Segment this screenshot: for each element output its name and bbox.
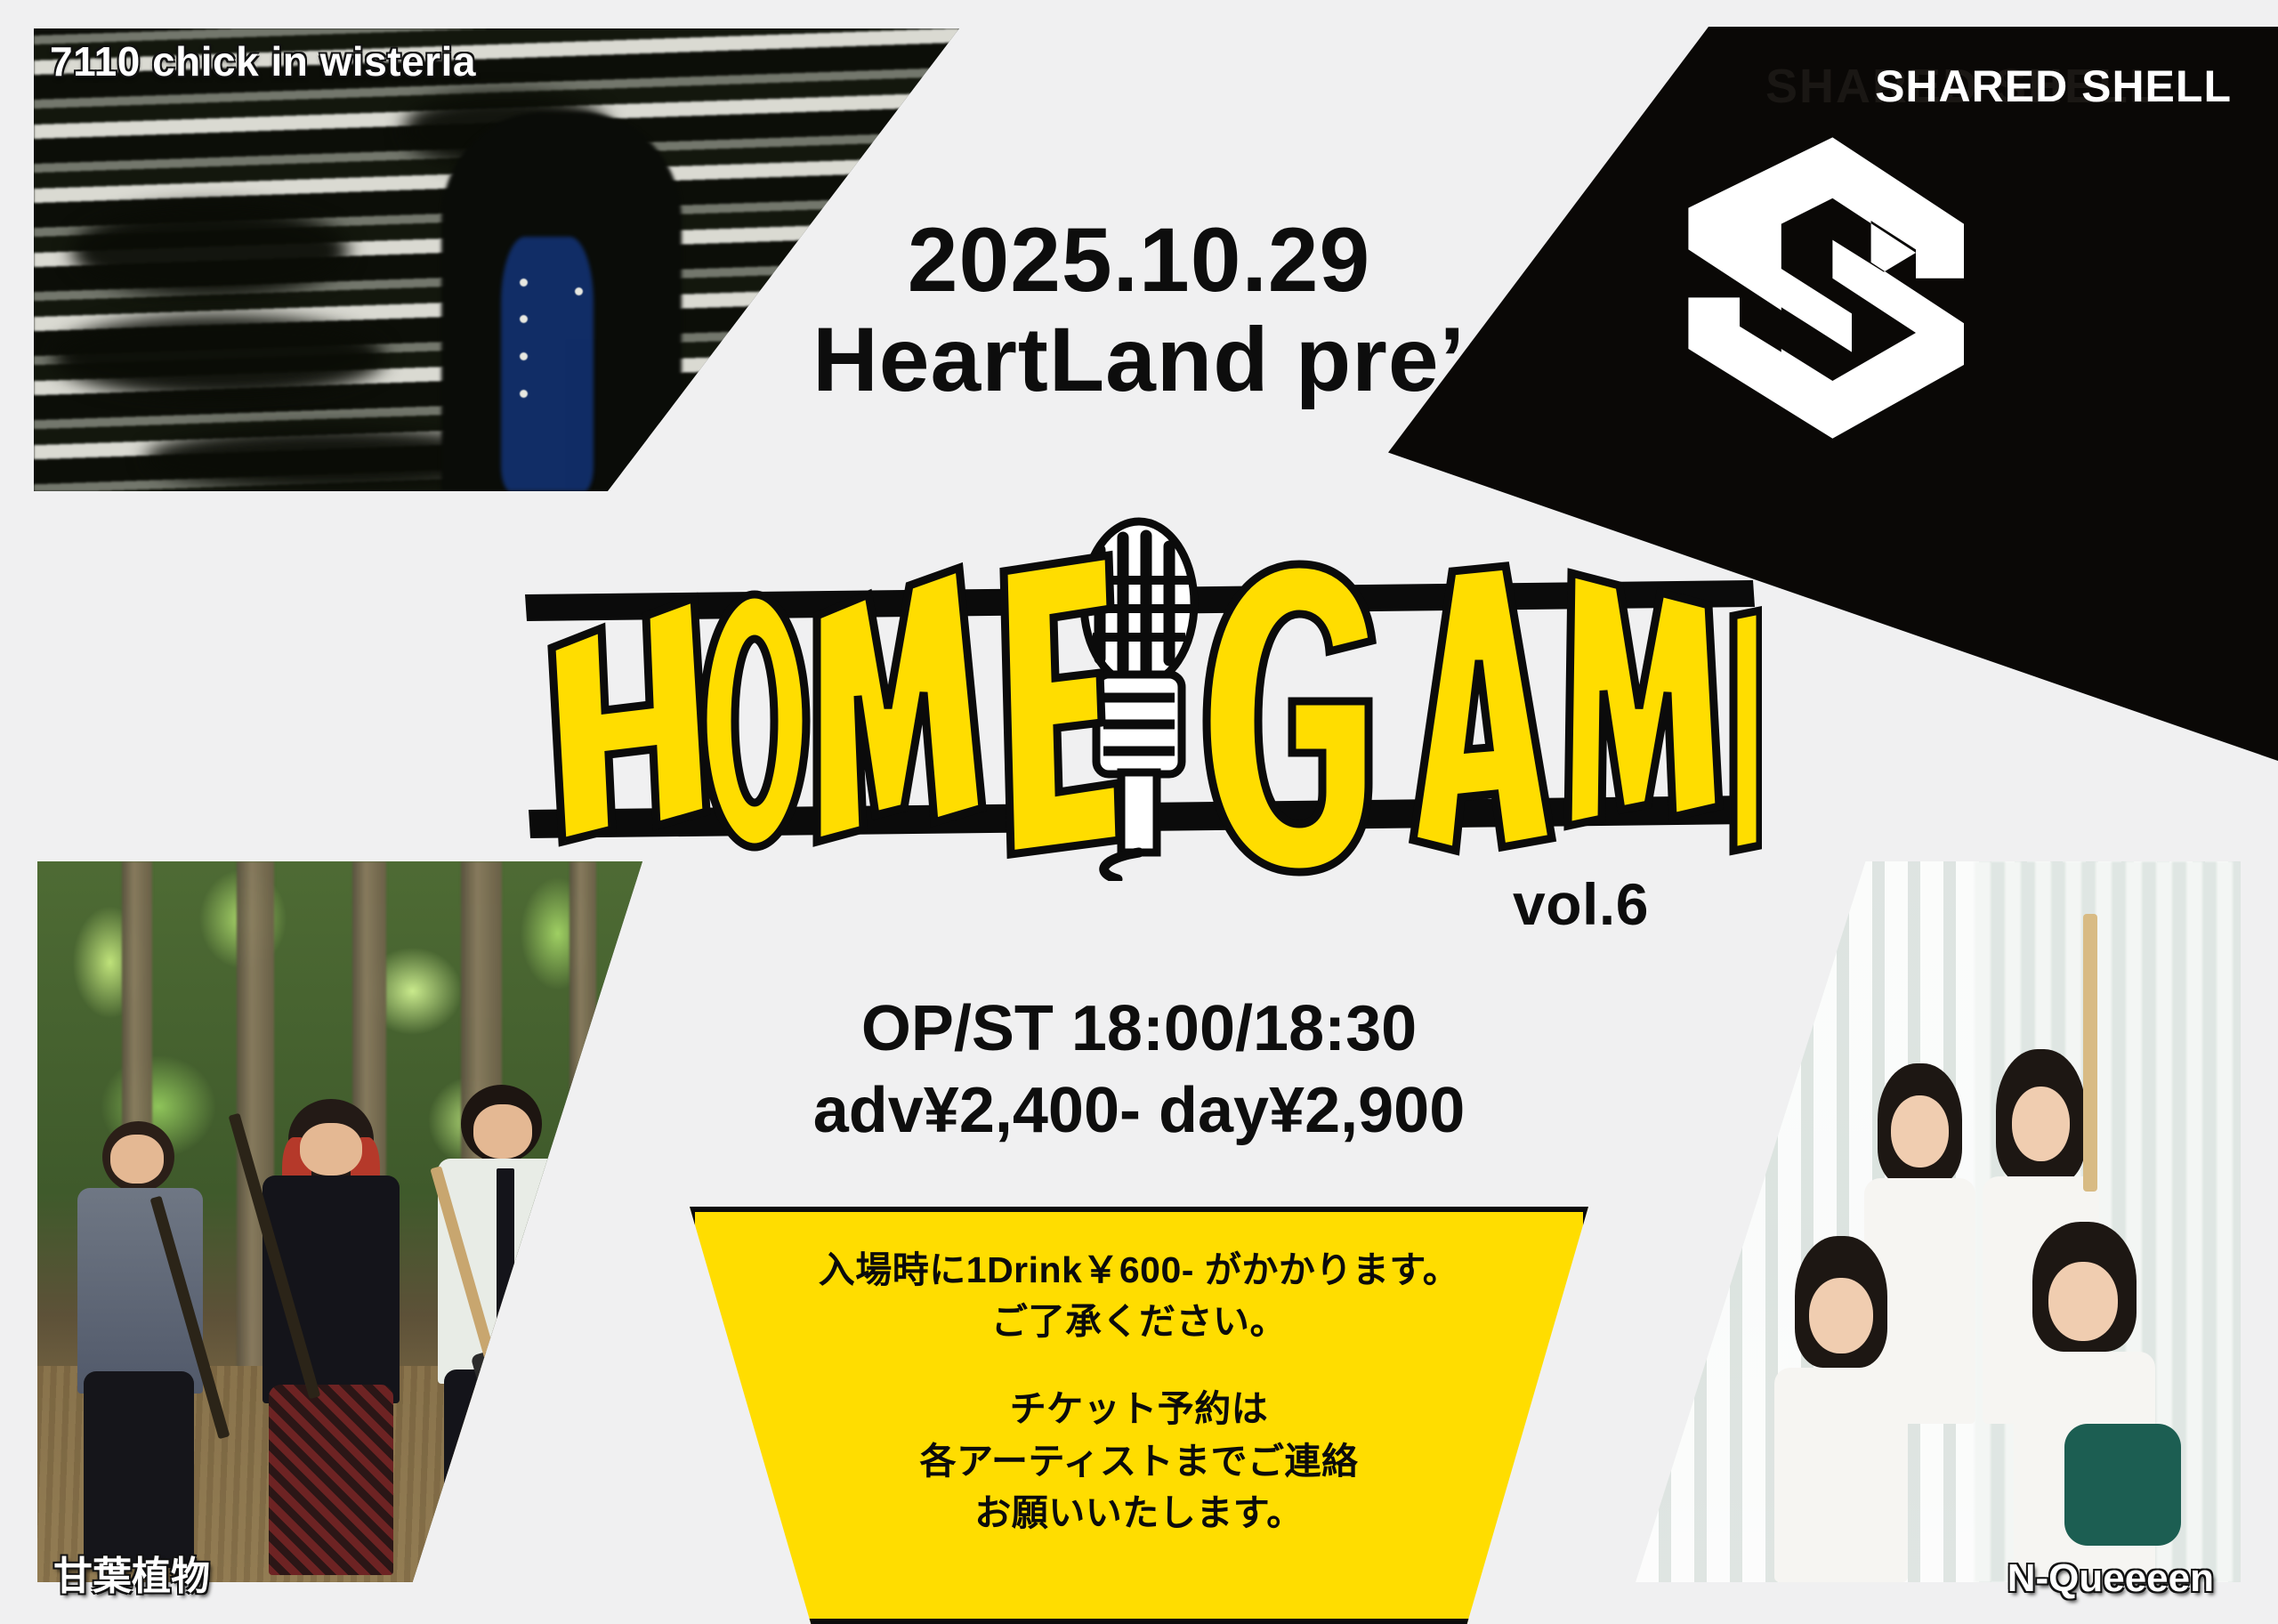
notice-line-understand: ご了承ください。 xyxy=(819,1296,1459,1347)
venue-name: SHARED SHELL xyxy=(1875,61,2232,112)
notice-box: 入場時に1Drink￥600- がかかります。 ご了承ください。 チケット予約は… xyxy=(690,1207,1588,1624)
photo-shadow-blob xyxy=(53,315,385,399)
notice-line-request: お願いいたします。 xyxy=(919,1487,1358,1539)
logo-letter-H xyxy=(552,598,707,842)
photo-jacket-button xyxy=(520,352,528,360)
photo-member-dress xyxy=(1774,1368,1908,1582)
artist-photo-amaha-shokubutsu xyxy=(37,861,642,1582)
logo-letter-E2 xyxy=(1733,610,1760,851)
photo-member-face xyxy=(2048,1262,2118,1341)
event-times: OP/ST 18:00/18:30 xyxy=(813,988,1466,1070)
photo-figure-jacket xyxy=(501,237,594,491)
notice-line-contact-artist: 各アーティストまでご連絡 xyxy=(919,1435,1358,1487)
photo-member xyxy=(1769,1236,1914,1582)
photo-musician-face xyxy=(300,1123,362,1176)
artist-name-top-left: 7110 chick in wisteria xyxy=(50,37,476,85)
photo-jacket-button xyxy=(520,279,528,287)
home-game-logo-artwork xyxy=(516,498,1762,881)
photo-tree-trunk xyxy=(569,861,596,1380)
notice-group-drink: 入場時に1Drink￥600- がかかります。 ご了承ください。 xyxy=(819,1244,1459,1347)
event-date: 2025.10.29 xyxy=(908,214,1371,306)
notice-line-ticket-reserve: チケット予約は xyxy=(919,1383,1358,1434)
event-presenter: HeartLand pre’ xyxy=(812,313,1466,406)
photo-green-guitar xyxy=(2064,1424,2181,1547)
photo-musician-necktie xyxy=(497,1168,514,1335)
artist-name-bottom-left: 甘葉植物 xyxy=(53,1544,210,1601)
artist-photo-7110-chick-in-wisteria xyxy=(34,28,959,491)
photo-shadow-blob xyxy=(71,205,349,297)
photo-member-face xyxy=(2012,1087,2071,1161)
notice-group-ticket: チケット予約は 各アーティストまでご連絡 お願いいたします。 xyxy=(919,1383,1358,1539)
home-game-logo xyxy=(516,498,1762,881)
logo-letter-G xyxy=(1207,564,1372,872)
photo-member xyxy=(2011,1222,2169,1582)
photo-member-face xyxy=(1809,1278,1873,1354)
photo-jacket-button xyxy=(520,390,528,398)
artist-photo-n-queeeen xyxy=(1636,861,2241,1582)
photo-musician xyxy=(249,1099,413,1575)
photo-musician xyxy=(61,1121,219,1568)
event-prices: adv¥2,400- day¥2,900 xyxy=(813,1070,1466,1151)
photo-musician-skirt xyxy=(269,1385,393,1575)
event-flyer: 7110 chick in wisteria SHARED SHELL SHAR… xyxy=(0,0,2278,1624)
photo-musician-face xyxy=(110,1135,164,1184)
logo-volume-label: vol.6 xyxy=(1513,870,1649,938)
logo-letter-M2 xyxy=(1568,573,1719,826)
notice-line-drink-fee: 入場時に1Drink￥600- がかかります。 xyxy=(819,1244,1459,1296)
shared-shell-logo-icon xyxy=(1655,125,1984,445)
photo-musician-bottom xyxy=(84,1371,194,1568)
artist-name-bottom-right: N-Queeeen xyxy=(2007,1556,2214,1601)
photo-guitar-body xyxy=(471,1328,598,1459)
photo-musician xyxy=(424,1085,588,1575)
photo-musician-face xyxy=(473,1104,532,1159)
logo-letter-E xyxy=(1004,555,1119,854)
photo-musician-pants xyxy=(444,1369,569,1575)
photo-member-face xyxy=(1891,1095,1950,1168)
event-info-block: OP/ST 18:00/18:30 adv¥2,400- day¥2,900 xyxy=(813,988,1466,1151)
photo-bass-neck xyxy=(2083,914,2097,1192)
